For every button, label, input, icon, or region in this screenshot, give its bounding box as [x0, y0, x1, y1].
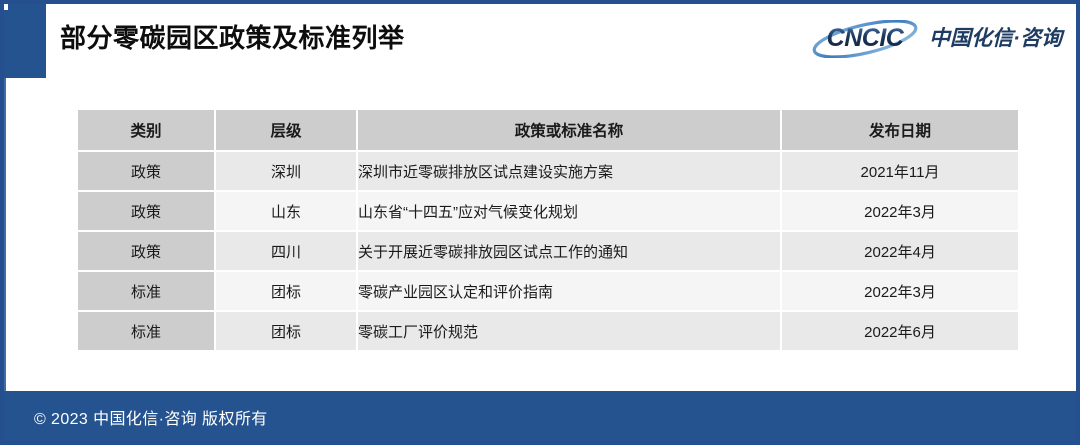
table-row: 标准 团标 零碳产业园区认定和评价指南 2022年3月: [78, 272, 1018, 310]
table-row: 标准 团标 零碳工厂评价规范 2022年6月: [78, 312, 1018, 350]
cell-category: 政策: [78, 232, 214, 270]
logo-brand-text: 中国化信·咨询: [929, 28, 1062, 51]
left-side-rule: [4, 78, 6, 396]
slide-footer: © 2023 中国化信·咨询 版权所有: [4, 391, 1076, 441]
cell-level: 团标: [216, 272, 356, 310]
cell-name: 山东省“十四五”应对气候变化规划: [358, 192, 780, 230]
header-accent-notch: [4, 4, 8, 10]
cell-category: 标准: [78, 312, 214, 350]
slide: 部分零碳园区政策及标准列举: [0, 0, 1080, 445]
column-header-level: 层级: [216, 110, 356, 150]
column-header-date: 发布日期: [782, 110, 1018, 150]
cell-date: 2022年3月: [782, 192, 1018, 230]
column-header-name: 政策或标准名称: [358, 110, 780, 150]
policy-table-container: 类别 层级 政策或标准名称 发布日期 政策 深圳 深圳市近零碳排放区试点建设实施…: [76, 108, 1012, 352]
cell-level: 团标: [216, 312, 356, 350]
cell-name: 关于开展近零碳排放园区试点工作的通知: [358, 232, 780, 270]
cell-category: 标准: [78, 272, 214, 310]
cell-category: 政策: [78, 152, 214, 190]
copyright-text: © 2023 中国化信·咨询 版权所有: [34, 405, 268, 429]
cell-name: 零碳工厂评价规范: [358, 312, 780, 350]
cell-date: 2021年11月: [782, 152, 1018, 190]
cncic-logo-icon: CNCIC: [809, 20, 921, 58]
company-logo: CNCIC 中国化信·咨询: [809, 20, 1062, 58]
policy-table: 类别 层级 政策或标准名称 发布日期 政策 深圳 深圳市近零碳排放区试点建设实施…: [76, 108, 1020, 352]
cell-name: 零碳产业园区认定和评价指南: [358, 272, 780, 310]
table-header-row: 类别 层级 政策或标准名称 发布日期: [78, 110, 1018, 150]
cell-level: 深圳: [216, 152, 356, 190]
table-row: 政策 山东 山东省“十四五”应对气候变化规划 2022年3月: [78, 192, 1018, 230]
cell-name: 深圳市近零碳排放区试点建设实施方案: [358, 152, 780, 190]
cell-level: 山东: [216, 192, 356, 230]
cell-date: 2022年3月: [782, 272, 1018, 310]
table-row: 政策 深圳 深圳市近零碳排放区试点建设实施方案 2021年11月: [78, 152, 1018, 190]
header-accent-bar: [4, 4, 46, 78]
slide-header: 部分零碳园区政策及标准列举: [4, 4, 1076, 78]
cell-date: 2022年6月: [782, 312, 1018, 350]
table-row: 政策 四川 关于开展近零碳排放园区试点工作的通知 2022年4月: [78, 232, 1018, 270]
cell-date: 2022年4月: [782, 232, 1018, 270]
svg-text:CNCIC: CNCIC: [827, 24, 905, 52]
cell-category: 政策: [78, 192, 214, 230]
column-header-category: 类别: [78, 110, 214, 150]
cell-level: 四川: [216, 232, 356, 270]
page-title: 部分零碳园区政策及标准列举: [60, 18, 405, 55]
